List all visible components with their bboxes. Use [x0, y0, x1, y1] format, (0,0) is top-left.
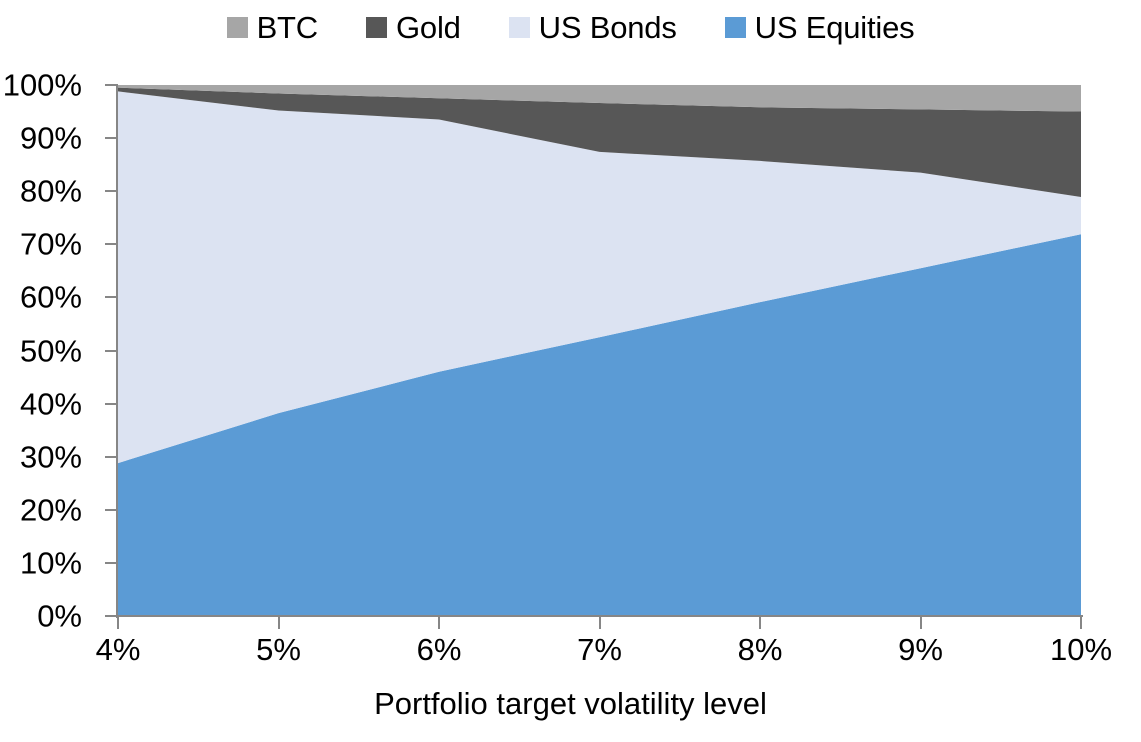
legend-label-btc: BTC — [257, 12, 318, 43]
x-axis-label: 5% — [256, 634, 301, 665]
y-axis-label: 40% — [20, 388, 82, 419]
x-axis-label: 7% — [577, 634, 622, 665]
y-axis-tick — [105, 296, 117, 298]
legend-item-us-equities[interactable]: US Equities — [725, 12, 915, 43]
y-axis-label: 90% — [20, 123, 82, 154]
y-axis-label: 0% — [37, 601, 82, 632]
x-axis-label: 8% — [738, 634, 783, 665]
x-axis-label: 6% — [417, 634, 462, 665]
stacked-area-chart: BTC Gold US Bonds US Equities 0%10%20%30… — [0, 0, 1141, 742]
x-axis-tick — [117, 617, 119, 629]
y-axis-tick — [105, 509, 117, 511]
legend-label-us-equities: US Equities — [755, 12, 915, 43]
legend-label-us-bonds: US Bonds — [539, 12, 677, 43]
x-axis-tick — [920, 617, 922, 629]
y-axis-tick — [105, 84, 117, 86]
x-axis-label: 9% — [898, 634, 943, 665]
x-axis-tick — [438, 617, 440, 629]
x-axis-tick — [759, 617, 761, 629]
y-axis-tick — [105, 190, 117, 192]
y-axis-tick — [105, 562, 117, 564]
legend-item-us-bonds[interactable]: US Bonds — [509, 12, 677, 43]
x-axis-tick — [278, 617, 280, 629]
x-axis-tick — [599, 617, 601, 629]
legend-item-gold[interactable]: Gold — [366, 12, 461, 43]
x-axis-label: 4% — [96, 634, 141, 665]
y-axis-label: 100% — [3, 70, 82, 101]
x-axis-label: 10% — [1050, 634, 1112, 665]
y-axis-label: 50% — [20, 335, 82, 366]
legend-swatch-us-bonds — [509, 17, 530, 38]
y-axis-tick — [105, 137, 117, 139]
plot-area — [118, 85, 1081, 616]
y-axis-label: 20% — [20, 494, 82, 525]
area-series-svg — [118, 85, 1081, 616]
legend-swatch-gold — [366, 17, 387, 38]
y-axis-label: 70% — [20, 229, 82, 260]
x-axis-tick — [1080, 617, 1082, 629]
y-axis-label: 30% — [20, 441, 82, 472]
y-axis-tick — [105, 615, 117, 617]
y-axis-label: 60% — [20, 282, 82, 313]
y-axis-tick — [105, 243, 117, 245]
y-axis-tick — [105, 350, 117, 352]
y-axis-label: 10% — [20, 547, 82, 578]
legend-swatch-us-equities — [725, 17, 746, 38]
y-axis-label: 80% — [20, 176, 82, 207]
chart-legend: BTC Gold US Bonds US Equities — [0, 4, 1141, 50]
x-axis-title: Portfolio target volatility level — [0, 688, 1141, 719]
legend-label-gold: Gold — [396, 12, 461, 43]
legend-item-btc[interactable]: BTC — [227, 12, 318, 43]
legend-swatch-btc — [227, 17, 248, 38]
y-axis-tick — [105, 403, 117, 405]
y-axis-tick — [105, 456, 117, 458]
